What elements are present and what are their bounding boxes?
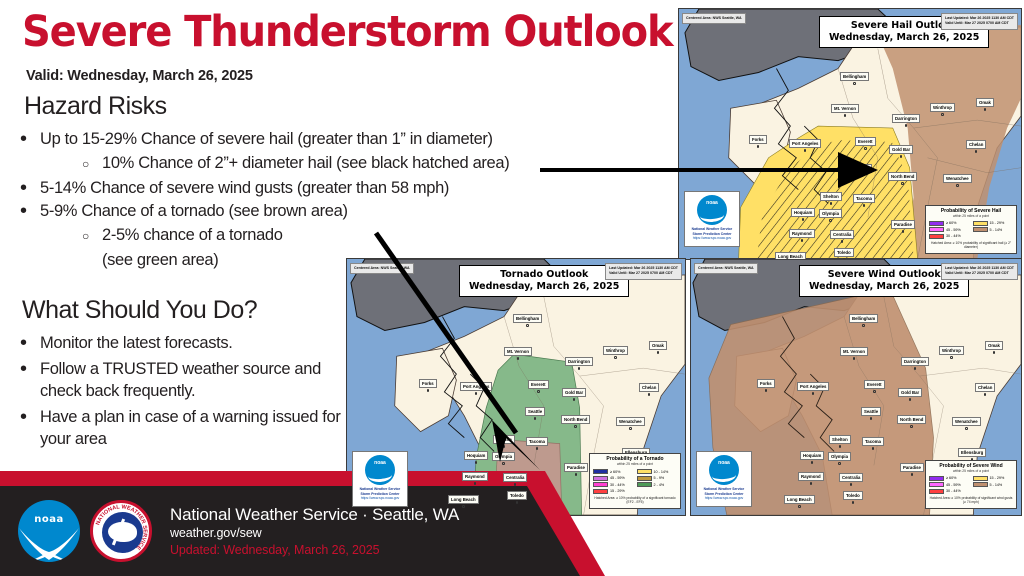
city-marker-icon	[516, 501, 519, 504]
map-wind-timestamp: Last Updated: Mar 26 2025 1130 AM CDT Va…	[941, 263, 1018, 280]
city-marker-icon	[950, 356, 953, 359]
city-label-text: Gold Bar	[562, 388, 586, 397]
city-label: Gold Bar	[898, 388, 922, 401]
city-label: Darrington	[901, 357, 929, 370]
city-label: Hoquiam	[791, 208, 815, 221]
city-label: Bellingham	[849, 314, 878, 327]
city-label-text: Raymond	[462, 472, 488, 481]
city-label-text: Long Beach	[775, 252, 806, 260]
city-label: Seattle	[525, 407, 545, 420]
map-hail-timestamp: Last Updated: Mar 26 2025 1130 AM CDT Va…	[941, 13, 1018, 30]
city-label: Shelton	[820, 192, 842, 205]
city-label-text: Paradise	[891, 220, 915, 229]
city-label-text: Gold Bar	[898, 388, 922, 397]
city-label-text: Bellingham	[849, 314, 878, 323]
city-label-text: Omak	[649, 341, 667, 350]
city-label: Raymond	[798, 472, 824, 485]
city-label-text: Shelton	[820, 192, 842, 201]
city-marker-icon	[474, 482, 477, 485]
city-label: Chelan	[639, 383, 659, 396]
city-label: Paradise	[564, 463, 588, 476]
city-label: Hoquiam	[800, 451, 824, 464]
city-marker-icon	[798, 505, 801, 508]
hazard-bullet-text: (see green area)	[102, 249, 218, 272]
city-marker-icon	[537, 390, 540, 393]
city-marker-icon	[427, 389, 430, 392]
city-label-text: Seattle	[525, 407, 545, 416]
city-label: Everett	[855, 137, 876, 150]
city-label-text: Hoquiam	[800, 451, 824, 460]
noaa-logo-icon: noaa	[18, 500, 80, 562]
city-label: Tacoma	[526, 437, 548, 450]
legend-swatch	[637, 476, 652, 481]
city-label-text: Forks	[749, 135, 767, 144]
city-marker-icon	[765, 389, 768, 392]
nws-emblem	[102, 512, 143, 553]
action-bullet-text: Follow a TRUSTED weather source and chec…	[40, 358, 360, 403]
city-label-text: Winthrop	[930, 103, 955, 112]
city-label-text: Everett	[864, 380, 885, 389]
city-label: Toledo	[834, 248, 854, 260]
city-label: Mt. Vernon	[504, 347, 532, 360]
city-label: Toledo	[507, 491, 527, 504]
city-marker-icon	[861, 174, 864, 177]
legend-swatch	[929, 482, 944, 487]
city-marker-icon	[873, 390, 876, 393]
map-severe-wind-outlook[interactable]: Severe Wind Outlook Wednesday, March 26,…	[690, 258, 1022, 516]
city-label-text: Winthrop	[603, 346, 628, 355]
hazard-bullet: •Up to 15-29% Chance of severe hail (gre…	[20, 128, 580, 151]
city-label-text: Darrington	[892, 114, 920, 123]
city-label-text: Everett	[855, 137, 876, 146]
city-marker-icon	[648, 393, 651, 396]
legend-swatch	[929, 476, 944, 481]
legend-swatch	[593, 482, 608, 487]
legend-label: 45 - 59%	[946, 228, 961, 232]
legend-item: 2 - 4%	[637, 481, 678, 488]
hazard-bullet-text: 5-9% Chance of a tornado (see brown area…	[40, 200, 348, 223]
city-label: Omak	[976, 98, 994, 111]
city-marker-icon	[905, 124, 908, 127]
city-label-text: Shelton	[829, 435, 851, 444]
city-label-text: North Bend	[561, 415, 590, 424]
city-marker-icon	[984, 393, 987, 396]
city-label-text: Mt. Vernon	[504, 347, 532, 356]
legend-label: 15 - 29%	[610, 489, 625, 493]
city-label: Shelton	[829, 435, 851, 448]
legend-label: 5 - 14%	[990, 228, 1003, 232]
hazard-bullet-text: 5-14% Chance of severe wind gusts (great…	[40, 177, 449, 200]
legend-item: 5 - 14%	[973, 481, 1014, 488]
city-label: Winthrop	[939, 346, 964, 359]
hazard-risks-list: •Up to 15-29% Chance of severe hail (gre…	[20, 128, 580, 272]
legend-swatch	[973, 221, 988, 226]
city-label-text: Paradise	[900, 463, 924, 472]
city-label: Chelan	[966, 140, 986, 153]
city-label-text: Wenatchee	[943, 174, 972, 183]
city-label-text: Hoquiam	[791, 208, 815, 217]
map-tornado-outlook[interactable]: Tornado Outlook Wednesday, March 26, 202…	[346, 258, 686, 516]
city-label: Port Angeles	[460, 382, 492, 395]
legend-swatch	[637, 469, 652, 474]
city-marker-icon	[812, 392, 815, 395]
footer-updated-date: Updated: Wednesday, March 26, 2025	[170, 542, 459, 559]
city-label: Gold Bar	[889, 145, 913, 158]
city-marker-icon	[862, 324, 865, 327]
city-label-text: Omak	[976, 98, 994, 107]
city-marker-icon	[956, 184, 959, 187]
city-marker-icon	[941, 113, 944, 116]
legend-item: 30 - 44%	[929, 488, 970, 495]
hazard-risks-heading: Hazard Risks	[24, 92, 167, 121]
city-marker-icon	[853, 82, 856, 85]
city-label-text: Mt. Vernon	[840, 347, 868, 356]
city-label: Hoquiam	[464, 451, 488, 464]
map-tornado-timestamp: Last Updated: Mar 26 2025 1130 AM CDT Va…	[605, 263, 682, 280]
action-bullet-text: Have a plan in case of a warning issued …	[40, 406, 360, 451]
city-marker-icon	[534, 417, 537, 420]
city-label: Olympia	[828, 452, 851, 465]
page-title: Severe Thunderstorm Outlook	[22, 8, 672, 56]
city-label-text: Shelton	[493, 435, 515, 444]
city-label-text: Ellensburg	[958, 448, 986, 457]
city-label: Long Beach	[784, 495, 815, 508]
city-marker-icon	[462, 505, 465, 508]
city-label-text: Centralia	[830, 230, 854, 239]
legend-label: ≥ 60%	[946, 476, 956, 480]
city-marker-icon	[810, 482, 813, 485]
city-marker-icon	[574, 425, 577, 428]
city-marker-icon	[993, 351, 996, 354]
city-marker-icon	[902, 230, 905, 233]
legend-label: 5 - 14%	[990, 483, 1003, 487]
city-marker-icon	[863, 204, 866, 207]
bullet-marker-icon: •	[20, 332, 40, 354]
city-label: Gold Bar	[562, 388, 586, 401]
city-label: Bellingham	[840, 72, 869, 85]
noaa-icon: noaa	[709, 455, 739, 485]
city-label-text: Port Angeles	[797, 382, 829, 391]
city-label-text: Olympia	[492, 452, 515, 461]
city-label-text: Tacoma	[853, 194, 875, 203]
city-label: North Bend	[888, 172, 917, 185]
city-marker-icon	[839, 445, 842, 448]
city-marker-icon	[475, 392, 478, 395]
bullet-marker-icon: •	[20, 177, 40, 199]
bullet-marker-icon: •	[20, 406, 40, 428]
city-label: Long Beach	[448, 495, 479, 508]
city-label: Winthrop	[603, 346, 628, 359]
city-label: Ellensburg	[958, 448, 986, 461]
city-marker-icon	[804, 149, 807, 152]
city-marker-icon	[850, 483, 853, 486]
hazard-bullet-text: Up to 15-29% Chance of severe hail (grea…	[40, 128, 493, 151]
city-marker-icon	[629, 427, 632, 430]
city-label: Wenatchee	[952, 417, 981, 430]
legend-label: 45 - 59%	[610, 476, 625, 480]
noaa-bird-icon	[18, 524, 80, 562]
city-label: Paradise	[891, 220, 915, 233]
city-label: Winthrop	[930, 103, 955, 116]
action-bullet: •Have a plan in case of a warning issued…	[20, 406, 360, 451]
city-label-text: Port Angeles	[789, 139, 821, 148]
city-marker-icon	[975, 150, 978, 153]
city-marker-icon	[802, 218, 805, 221]
legend-swatch	[593, 469, 608, 474]
map-severe-hail-outlook[interactable]: Severe Hail Outlook Wednesday, March 26,…	[678, 8, 1022, 260]
bullet-marker-icon: •	[20, 200, 40, 222]
city-label-text: Winthrop	[939, 346, 964, 355]
city-marker-icon	[914, 367, 917, 370]
city-label-text: Tacoma	[862, 437, 884, 446]
city-label-text: Tacoma	[526, 437, 548, 446]
city-label: Darrington	[892, 114, 920, 127]
spc-logo-wind: noaa National Weather Service Storm Pred…	[696, 451, 752, 507]
city-label: Tacoma	[862, 437, 884, 450]
legend-swatch	[929, 489, 944, 494]
city-label-text: Toledo	[507, 491, 527, 500]
city-label: Long Beach	[775, 252, 806, 260]
city-label-text: Long Beach	[784, 495, 815, 504]
city-marker-icon	[910, 425, 913, 428]
city-label: Forks	[749, 135, 767, 148]
city-label: Seattle	[861, 407, 881, 420]
city-label: Everett	[528, 380, 549, 393]
city-label: Centralia	[830, 230, 854, 243]
city-label-text: Olympia	[819, 209, 842, 218]
city-label: Forks	[757, 379, 775, 392]
city-marker-icon	[757, 145, 760, 148]
legend-label: 30 - 44%	[946, 489, 961, 493]
map-hail-centered-area: Centered Area: NWS Seattle, WA	[682, 13, 746, 24]
legend-swatch	[593, 476, 608, 481]
city-label: Port Angeles	[789, 139, 821, 152]
city-label: Centralia	[503, 473, 527, 486]
noaa-icon: noaa	[365, 455, 395, 485]
city-label-text: Toledo	[834, 248, 854, 257]
map-wind-centered-area: Centered Area: NWS Seattle, WA	[694, 263, 758, 274]
city-label: Mt. Vernon	[831, 104, 859, 117]
action-bullet: •Follow a TRUSTED weather source and che…	[20, 358, 360, 403]
city-label: Olympia	[819, 209, 842, 222]
action-bullet: •Monitor the latest forecasts.	[20, 332, 360, 355]
map-tornado-title: Tornado Outlook Wednesday, March 26, 202…	[459, 265, 629, 297]
footer-website[interactable]: weather.gov/sew	[170, 525, 459, 542]
city-label-text: Wenatchee	[952, 417, 981, 426]
city-label: Wenatchee	[616, 417, 645, 430]
city-marker-icon	[526, 324, 529, 327]
city-label: Tacoma	[853, 194, 875, 207]
city-marker-icon	[984, 108, 987, 111]
city-label: Wenatchee	[943, 174, 972, 187]
legend-swatch	[593, 489, 608, 494]
city-label-text: Omak	[985, 341, 1003, 350]
city-marker-icon	[838, 462, 841, 465]
legend-label: ≥ 60%	[946, 221, 956, 225]
city-marker-icon	[830, 202, 833, 205]
city-label: Bellingham	[513, 314, 542, 327]
legend-item: 15 - 29%	[593, 488, 634, 495]
city-label-text: Centralia	[503, 473, 527, 482]
city-marker-icon	[829, 219, 832, 222]
city-marker-icon	[801, 239, 804, 242]
city-label-text: Darrington	[901, 357, 929, 366]
city-label-text: Gold Bar	[889, 145, 913, 154]
city-marker-icon	[870, 417, 873, 420]
city-marker-icon	[502, 462, 505, 465]
city-label-text: Everett	[528, 380, 549, 389]
nws-logo-icon: NATIONAL WEATHER SERVICE	[90, 500, 152, 562]
city-label-text: Port Angeles	[460, 382, 492, 391]
bullet-marker-icon: ○	[82, 224, 102, 248]
legend-severe-hail: Probability of Severe Hail within 25 mil…	[925, 205, 1017, 254]
city-marker-icon	[900, 155, 903, 158]
city-marker-icon	[811, 461, 814, 464]
legend-swatch	[929, 227, 944, 232]
city-label: Darrington	[565, 357, 593, 370]
legend-severe-wind: Probability of Severe Wind within 25 mil…	[925, 460, 1017, 509]
city-marker-icon	[657, 351, 660, 354]
city-label: Raymond	[789, 229, 815, 242]
hazard-bullet: •5-14% Chance of severe wind gusts (grea…	[20, 177, 580, 200]
city-marker-icon	[852, 501, 855, 504]
city-marker-icon	[872, 447, 875, 450]
legend-label: ≥ 60%	[610, 470, 620, 474]
action-list: •Monitor the latest forecasts.•Follow a …	[20, 332, 360, 454]
city-label: Paradise	[900, 463, 924, 476]
city-label-text: Chelan	[639, 383, 659, 392]
map-tornado-centered-area: Centered Area: NWS Seattle, WA	[350, 263, 414, 274]
noaa-icon: noaa	[697, 195, 727, 225]
legend-swatch	[929, 234, 944, 239]
city-marker-icon	[864, 147, 867, 150]
city-label: Everett	[864, 380, 885, 393]
city-marker-icon	[517, 357, 520, 360]
hazard-bullet: ○10% Chance of 2”+ diameter hail (see bl…	[20, 152, 580, 176]
city-label-text: Bellingham	[840, 72, 869, 81]
city-label: Chelan	[975, 383, 995, 396]
city-marker-icon	[573, 398, 576, 401]
city-marker-icon	[578, 367, 581, 370]
city-label: Olympia	[492, 452, 515, 465]
city-label-text: Paradise	[564, 463, 588, 472]
city-marker-icon	[909, 398, 912, 401]
city-marker-icon	[503, 445, 506, 448]
legend-swatch	[637, 482, 652, 487]
legend-swatch	[973, 227, 988, 232]
city-label: Mt. Vernon	[840, 347, 868, 360]
legend-label: 30 - 44%	[946, 234, 961, 238]
city-label-text: Seattle	[861, 407, 881, 416]
bullet-marker-icon: ○	[82, 152, 102, 176]
city-label-text: Mt. Vernon	[831, 104, 859, 113]
bullet-marker-icon: •	[20, 128, 40, 150]
city-label-text: North Bend	[897, 415, 926, 424]
city-label-text: North Bend	[888, 172, 917, 181]
city-marker-icon	[536, 447, 539, 450]
legend-label: 10 - 14%	[654, 470, 669, 474]
city-marker-icon	[475, 461, 478, 464]
legend-label: 15 - 29%	[990, 221, 1005, 225]
city-marker-icon	[614, 356, 617, 359]
legend-label: 5 - 9%	[654, 476, 665, 480]
what-should-you-do-heading: What Should You Do?	[22, 296, 257, 325]
city-label-text: Seattle	[852, 164, 872, 173]
hazard-bullet: •5-9% Chance of a tornado (see brown are…	[20, 200, 580, 223]
city-label: Toledo	[843, 491, 863, 504]
city-label: Omak	[649, 341, 667, 354]
legend-label: 15 - 29%	[990, 476, 1005, 480]
city-label-text: Centralia	[839, 473, 863, 482]
legend-swatch	[973, 476, 988, 481]
footer-office-name: National Weather Service · Seattle, WA	[170, 504, 459, 525]
hazard-bullet-text: 2-5% chance of a tornado	[102, 224, 283, 247]
legend-tornado: Probability of a Tornado within 25 miles…	[589, 453, 681, 509]
city-label: Raymond	[462, 472, 488, 485]
city-label: Seattle	[852, 164, 872, 177]
city-label-text: Raymond	[798, 472, 824, 481]
footer: noaa NATIONAL WEATHER SERVICE National W…	[0, 471, 1024, 576]
city-label-text: Forks	[419, 379, 437, 388]
bullet-marker-icon: •	[20, 358, 40, 380]
city-marker-icon	[841, 240, 844, 243]
city-label-text: Forks	[757, 379, 775, 388]
city-marker-icon	[911, 473, 914, 476]
city-label-text: Olympia	[828, 452, 851, 461]
city-label-text: Chelan	[975, 383, 995, 392]
city-marker-icon	[901, 182, 904, 185]
city-label-text: Raymond	[789, 229, 815, 238]
spc-logo-hail: noaa National Weather Service Storm Pred…	[684, 191, 740, 247]
legend-swatch	[929, 221, 944, 226]
city-label-text: Long Beach	[448, 495, 479, 504]
legend-label: 2 - 4%	[654, 483, 665, 487]
city-label-text: Wenatchee	[616, 417, 645, 426]
city-label: North Bend	[897, 415, 926, 428]
hazard-bullet-text: 10% Chance of 2”+ diameter hail (see bla…	[102, 152, 509, 175]
legend-item: 30 - 44%	[929, 233, 970, 240]
city-label: Shelton	[493, 435, 515, 448]
legend-swatch	[973, 482, 988, 487]
city-marker-icon	[575, 473, 578, 476]
city-label: Centralia	[839, 473, 863, 486]
city-marker-icon	[965, 427, 968, 430]
legend-item: 5 - 14%	[973, 226, 1014, 233]
city-label: Port Angeles	[797, 382, 829, 395]
city-marker-icon	[514, 483, 517, 486]
action-bullet-text: Monitor the latest forecasts.	[40, 332, 233, 355]
spc-logo-tornado: noaa National Weather Service Storm Pred…	[352, 451, 408, 507]
valid-date-line: Valid: Wednesday, March 26, 2025	[26, 68, 253, 84]
legend-label: 30 - 44%	[610, 483, 625, 487]
city-label-text: Bellingham	[513, 314, 542, 323]
hazard-bullet: ○2-5% chance of a tornado	[20, 224, 580, 248]
city-label: Forks	[419, 379, 437, 392]
city-label-text: Chelan	[966, 140, 986, 149]
city-label-text: Hoquiam	[464, 451, 488, 460]
city-label: North Bend	[561, 415, 590, 428]
legend-label: 45 - 59%	[946, 483, 961, 487]
city-label-text: Darrington	[565, 357, 593, 366]
city-marker-icon	[844, 114, 847, 117]
city-label: Omak	[985, 341, 1003, 354]
city-marker-icon	[853, 357, 856, 360]
city-label-text: Toledo	[843, 491, 863, 500]
